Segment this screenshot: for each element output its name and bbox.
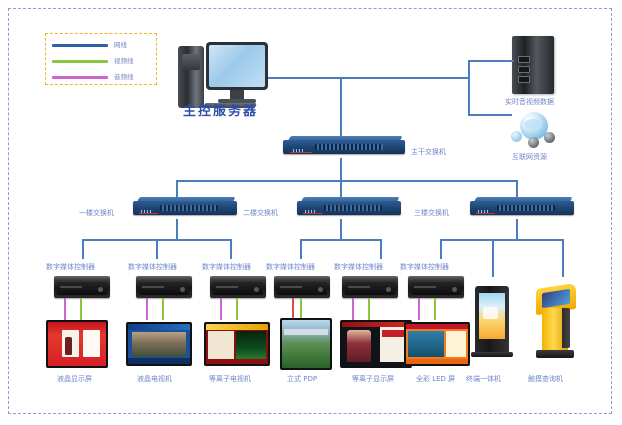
wire-to-av-server (468, 60, 514, 62)
wire-right-down (468, 77, 470, 115)
wire-backbone-down (340, 158, 342, 180)
media-controller-5-label: 数字媒体控制器 (334, 262, 383, 272)
wire-video-3 (236, 298, 238, 320)
standing-pdp-icon (280, 318, 332, 370)
floor3-switch-icon (470, 197, 574, 219)
legend-swatch-audio (52, 76, 108, 79)
legend: 网线 视频线 音频线 (45, 33, 157, 85)
globe-node-3 (544, 132, 555, 143)
news-photo (132, 332, 187, 357)
news-ticker (128, 358, 190, 364)
controller-knob (180, 287, 185, 292)
switch-ports (324, 205, 382, 211)
screen-frame (280, 318, 332, 370)
wire-audio-2 (146, 298, 148, 320)
floor3-switch-label: 三楼交换机 (414, 208, 449, 218)
legend-swatch-video (52, 60, 108, 63)
network-topology-diagram: 网线 视频线 音频线 主控服务器 实时音视频数据 互联网资源 (0, 0, 622, 425)
screen-content (282, 320, 330, 368)
wire-f2-bus (300, 239, 380, 241)
wire-f3-kiosk1 (492, 239, 494, 277)
globe-node-1 (511, 131, 522, 142)
wire-to-floor3 (516, 180, 518, 198)
led-video-area (408, 331, 444, 357)
backbone-switch-icon (283, 136, 405, 158)
lcd-tv-icon (126, 322, 192, 366)
legend-item-network: 网线 (52, 39, 152, 51)
switch-ports (315, 144, 383, 150)
legend-label-audio: 音频线 (114, 71, 134, 83)
plasma-display-label: 等离子显示屏 (352, 374, 394, 384)
wire-right-up (468, 60, 470, 78)
tv-program-image (342, 322, 410, 366)
realtime-av-data-label: 实时音视频数据 (505, 97, 554, 107)
media-controller-2-icon (136, 276, 192, 298)
wire-f2-down (340, 219, 342, 239)
ad-image-red (48, 322, 106, 366)
calendar-ad-image (206, 324, 268, 364)
controller-knob (386, 287, 391, 292)
wire-f3-kiosk2 (562, 239, 564, 277)
wire-audio-3 (220, 298, 222, 320)
legend-item-audio: 音频线 (52, 71, 152, 83)
floor2-switch-icon (297, 197, 401, 219)
kiosk-foot (536, 350, 574, 358)
lcd-tv-label: 液晶电视机 (137, 374, 172, 384)
led-side-panel (446, 331, 466, 357)
calendar-header (206, 324, 268, 330)
wire-audio-1 (64, 298, 66, 320)
media-controller-3-label: 数字媒体控制器 (202, 262, 251, 272)
wire-f2-c5 (380, 239, 382, 259)
screen-content (206, 324, 268, 364)
screen-frame (204, 322, 270, 366)
media-controller-3-icon (210, 276, 266, 298)
wire-f1-c2 (156, 239, 158, 259)
kiosk-screen (479, 293, 505, 339)
screen-frame (404, 322, 470, 366)
legend-item-video: 视频线 (52, 55, 152, 67)
standing-pdp-label: 立式 PDP (287, 374, 317, 384)
park-landscape-image (282, 320, 330, 368)
kiosk-body (475, 286, 509, 354)
plasma-display-icon (340, 320, 412, 368)
wire-video-4 (300, 298, 302, 320)
news-titlebar (128, 324, 190, 330)
media-controller-6-label: 数字媒体控制器 (400, 262, 449, 272)
controller-knob (318, 287, 323, 292)
wire-f1-c3 (230, 239, 232, 259)
boot-graphic-2 (86, 337, 93, 355)
switch-stripe (290, 152, 312, 154)
wire-to-floor1 (176, 180, 178, 198)
boot-graphic-1 (65, 337, 72, 355)
led-footer (406, 359, 468, 364)
switch-stripe (476, 213, 495, 215)
media-controller-1-icon (54, 276, 110, 298)
plasma-tv-icon (204, 322, 270, 366)
wire-f3-c6 (440, 239, 442, 259)
main-control-server-label: 主控服务器 (183, 100, 258, 119)
media-controller-4-label: 数字媒体控制器 (266, 262, 315, 272)
wire-video-6 (434, 298, 436, 320)
wire-f1-c1 (82, 239, 84, 259)
wire-f3-down (516, 219, 518, 239)
globe-node-2 (528, 137, 539, 148)
server-bay-3 (518, 76, 530, 83)
screen-content (128, 324, 190, 364)
server-bay-1 (518, 56, 530, 63)
lcd-display-label: 液晶显示屏 (57, 374, 92, 384)
kiosk-base (471, 352, 513, 357)
wire-server-to-backbone (340, 77, 342, 140)
backbone-switch-label: 主干交换机 (411, 147, 446, 157)
legend-label-network: 网线 (114, 39, 127, 51)
screen-content (342, 322, 410, 366)
floor1-switch-label: 一楼交换机 (79, 208, 114, 218)
wire-f1-down (176, 219, 178, 239)
tv-host-figure (347, 330, 370, 362)
pc-monitor (206, 42, 268, 90)
media-controller-6-icon (408, 276, 464, 298)
legend-swatch-network (52, 44, 108, 47)
screen-frame (126, 322, 192, 366)
media-controller-2-label: 数字媒体控制器 (128, 262, 177, 272)
floor1-switch-icon (133, 197, 237, 219)
touch-query-kiosk-label: 触摸查询机 (528, 374, 563, 384)
full-color-led-icon (404, 322, 470, 366)
controller-knob (254, 287, 259, 292)
screen-frame (340, 320, 412, 368)
calendar-grid (208, 331, 234, 359)
wire-audio-5 (352, 298, 354, 320)
screen-content (48, 322, 106, 366)
controller-knob (452, 287, 457, 292)
screen-frame (46, 320, 108, 368)
switch-stripe (139, 213, 158, 215)
wire-server-to-right (268, 77, 470, 79)
switch-stripe (303, 213, 322, 215)
touch-query-kiosk-icon (534, 286, 576, 358)
wire-to-internet (468, 114, 512, 116)
server-bay-2 (518, 66, 530, 73)
wire-f2-c4 (300, 239, 302, 259)
wire-video-5 (368, 298, 370, 320)
screen-content (406, 324, 468, 364)
wire-audio-6 (418, 298, 420, 320)
kiosk-poster-image (479, 293, 505, 339)
wire-video-2 (162, 298, 164, 320)
full-color-led-label: 全彩 LED 屏 (416, 374, 455, 384)
media-controller-1-label: 数字媒体控制器 (46, 262, 95, 272)
realtime-av-data-icon (512, 36, 554, 94)
internet-resource-icon (511, 112, 557, 152)
kiosk-column-shadow (562, 308, 570, 348)
floor2-switch-label: 二楼交换机 (243, 208, 278, 218)
wire-audio-4 (292, 298, 294, 320)
wire-floor-bus (176, 180, 516, 182)
pc-screen (209, 45, 265, 87)
wire-f3-bus (440, 239, 562, 241)
media-controller-4-icon (274, 276, 330, 298)
switch-ports (160, 205, 218, 211)
led-wall-image (406, 324, 468, 364)
wire-to-floor2 (340, 180, 342, 198)
pc-tower (178, 46, 204, 108)
all-in-one-terminal-label: 终端一体机 (466, 374, 501, 384)
night-scene (236, 331, 266, 359)
lcd-display-icon (46, 320, 108, 368)
news-broadcast-image (128, 324, 190, 364)
internet-resource-label: 互联网资源 (512, 152, 547, 162)
led-header (406, 324, 468, 329)
media-controller-5-icon (342, 276, 398, 298)
legend-label-video: 视频线 (114, 55, 134, 67)
switch-ports (497, 205, 555, 211)
wire-video-1 (80, 298, 82, 320)
plasma-tv-label: 等离子电视机 (209, 374, 251, 384)
controller-knob (98, 287, 103, 292)
